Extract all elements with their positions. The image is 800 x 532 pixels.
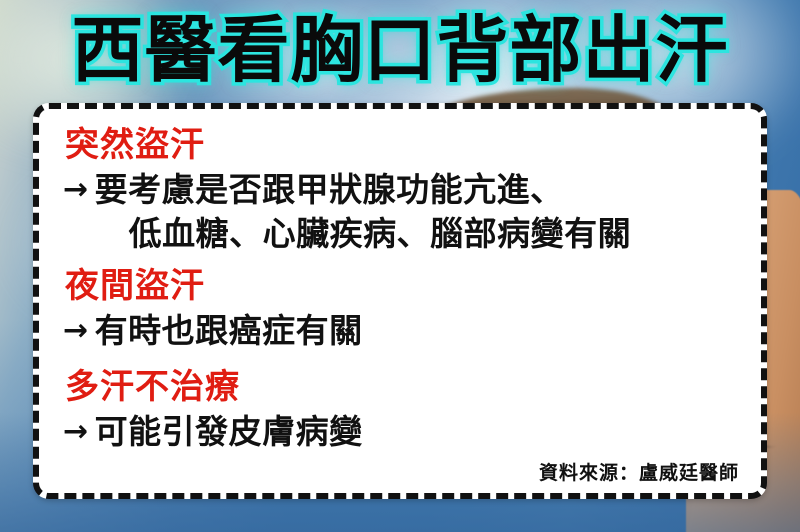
section-body-lines: 可能引發皮膚病變 (95, 410, 741, 454)
section-heading: 突然盜汗 (65, 123, 741, 167)
section-heading: 多汗不治療 (65, 365, 741, 409)
body-line: 低血糖、心臟疾病、腦部病變有關 (95, 214, 632, 253)
arrow-right-icon: → (63, 410, 89, 454)
section-body: → 要考慮是否跟甲狀腺功能亢進、 低血糖、心臟疾病、腦部病變有關 (61, 168, 741, 256)
section-spacer (61, 355, 741, 365)
section-sudden-night-sweats: 突然盜汗 → 要考慮是否跟甲狀腺功能亢進、 低血糖、心臟疾病、腦部病變有關 (61, 123, 741, 256)
arrow-right-icon: → (63, 168, 89, 212)
section-nocturnal-sweats: 夜間盜汗 → 有時也跟癌症有關 (61, 264, 741, 353)
section-heading: 夜間盜汗 (65, 264, 741, 308)
content-card: 突然盜汗 → 要考慮是否跟甲狀腺功能亢進、 低血糖、心臟疾病、腦部病變有關 夜間… (33, 103, 767, 499)
body-line: 有時也跟癌症有關 (95, 311, 363, 350)
section-body: → 可能引發皮膚病變 (61, 410, 741, 454)
body-line: 可能引發皮膚病變 (95, 412, 363, 451)
poster-root: 西醫看胸口背部出汗 突然盜汗 → 要考慮是否跟甲狀腺功能亢進、 低血糖、心臟疾病… (0, 0, 800, 532)
section-body-lines: 有時也跟癌症有關 (95, 309, 741, 353)
source-credit: 資料來源：盧威廷醫師 (539, 461, 739, 485)
body-line: 要考慮是否跟甲狀腺功能亢進、 (95, 170, 564, 209)
content-card-inner: 突然盜汗 → 要考慮是否跟甲狀腺功能亢進、 低血糖、心臟疾病、腦部病變有關 夜間… (39, 109, 761, 493)
section-untreated-hyperhidrosis: 多汗不治療 → 可能引發皮膚病變 (61, 365, 741, 454)
section-body-lines: 要考慮是否跟甲狀腺功能亢進、 低血糖、心臟疾病、腦部病變有關 (95, 168, 741, 256)
arrow-right-icon: → (63, 309, 89, 353)
section-body: → 有時也跟癌症有關 (61, 309, 741, 353)
